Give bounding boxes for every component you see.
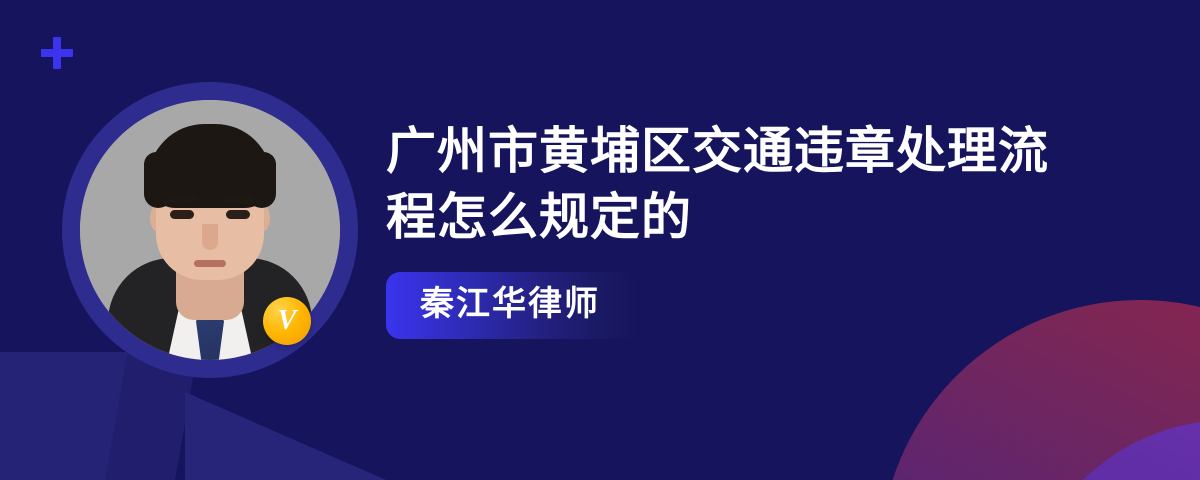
decorative-gradient-blob-inner [1020, 420, 1200, 480]
cover-text-block: 广州市黄埔区交通违章处理流程怎么规定的 秦江华律师 [386, 118, 1086, 339]
article-cover-banner: V 广州市黄埔区交通违章处理流程怎么规定的 秦江华律师 [0, 0, 1200, 480]
portrait-eye-right [226, 210, 250, 219]
portrait-mouth [194, 260, 226, 267]
avatar: V [62, 82, 358, 378]
plus-icon [41, 37, 73, 69]
portrait-nose [202, 224, 218, 250]
author-name-badge: 秦江华律师 [386, 272, 640, 339]
decorative-triangle [185, 392, 505, 480]
verified-v-icon: V [263, 297, 311, 345]
verified-badge-glyph: V [278, 307, 297, 335]
page-title: 广州市黄埔区交通违章处理流程怎么规定的 [386, 118, 1056, 250]
portrait-eye-left [170, 210, 194, 219]
